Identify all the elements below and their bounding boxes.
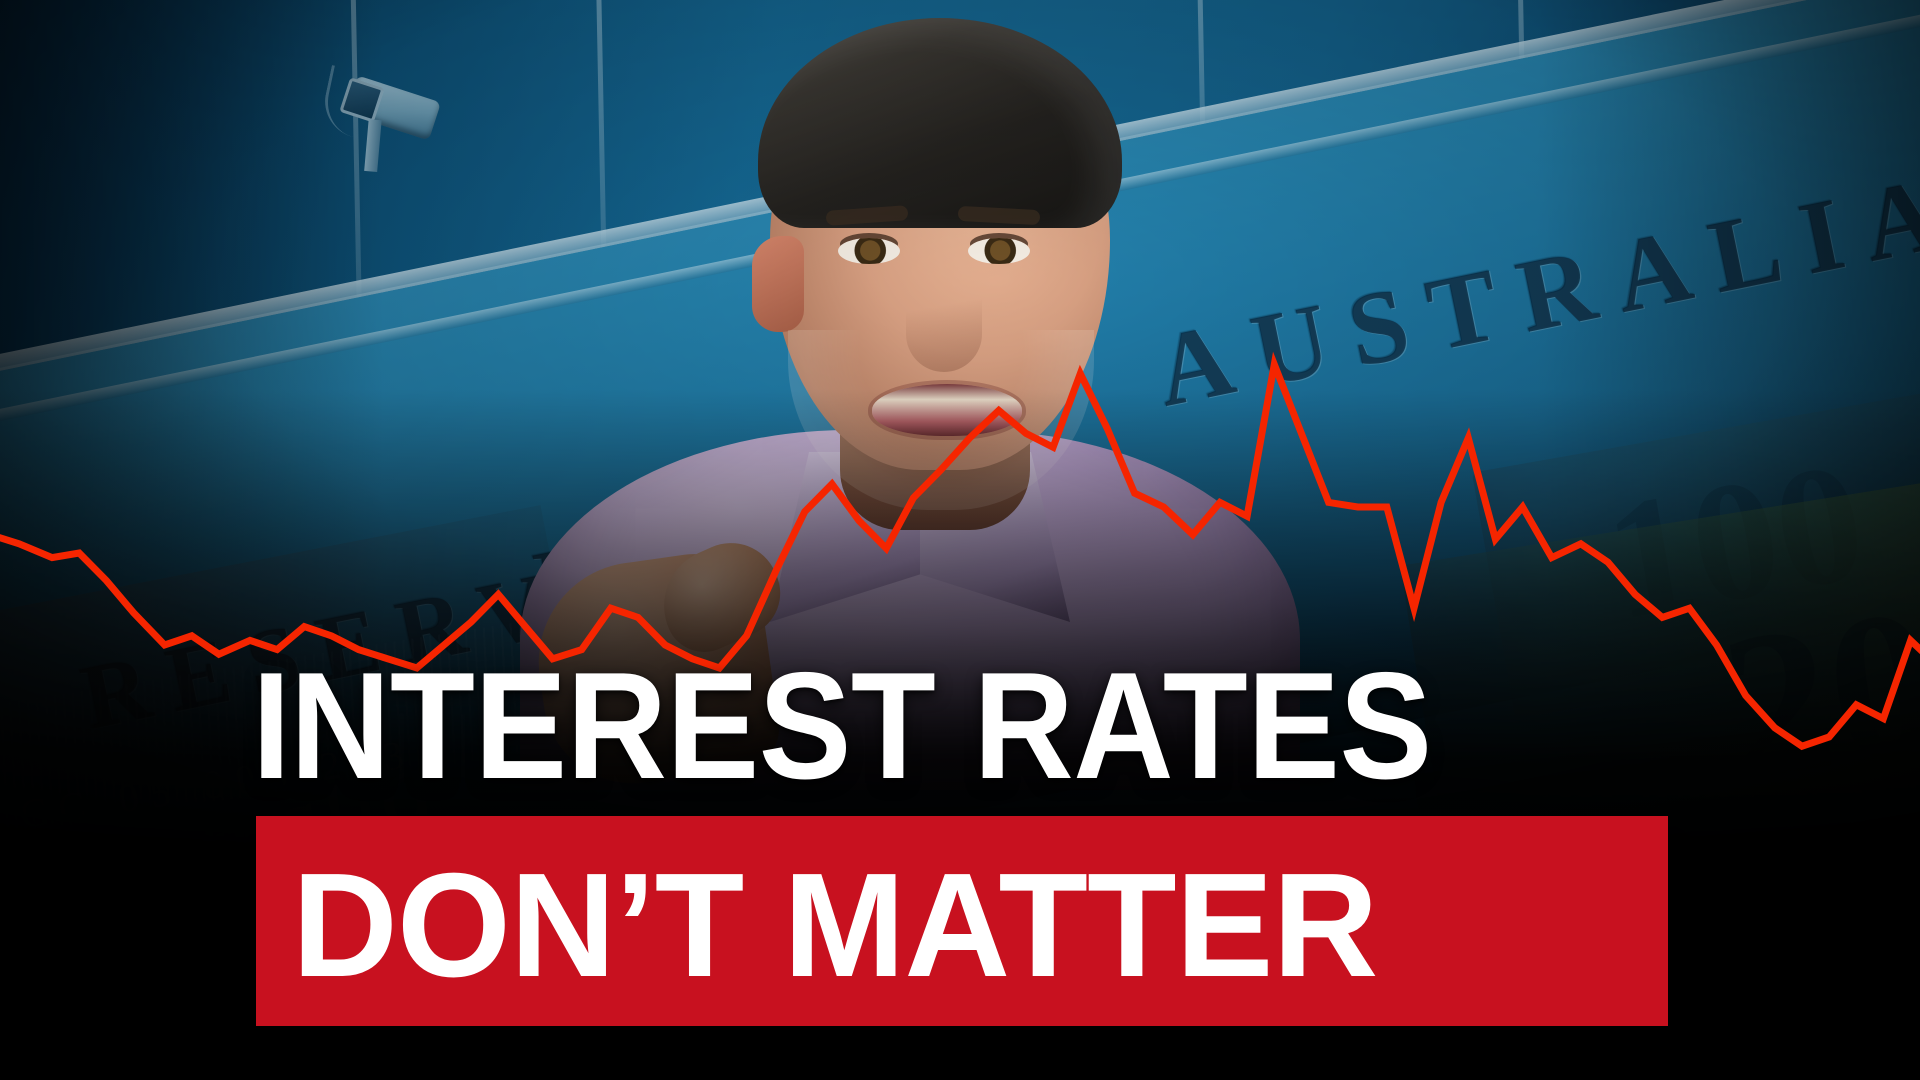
headline-line-2: DON’T MATTER — [292, 852, 1378, 1000]
presenter-mouth — [872, 384, 1022, 436]
presenter-eye-left — [838, 238, 900, 264]
presenter-ear — [752, 236, 804, 332]
presenter-hair — [758, 18, 1122, 228]
thumbnail-canvas: RESERVE BANK AUSTRALIA 100 20 50 CC 05 8… — [0, 0, 1920, 1080]
presenter-eye-right — [968, 238, 1030, 264]
headline-red-banner: DON’T MATTER — [256, 816, 1668, 1026]
headline-line-1: INTEREST RATES — [252, 650, 1432, 802]
